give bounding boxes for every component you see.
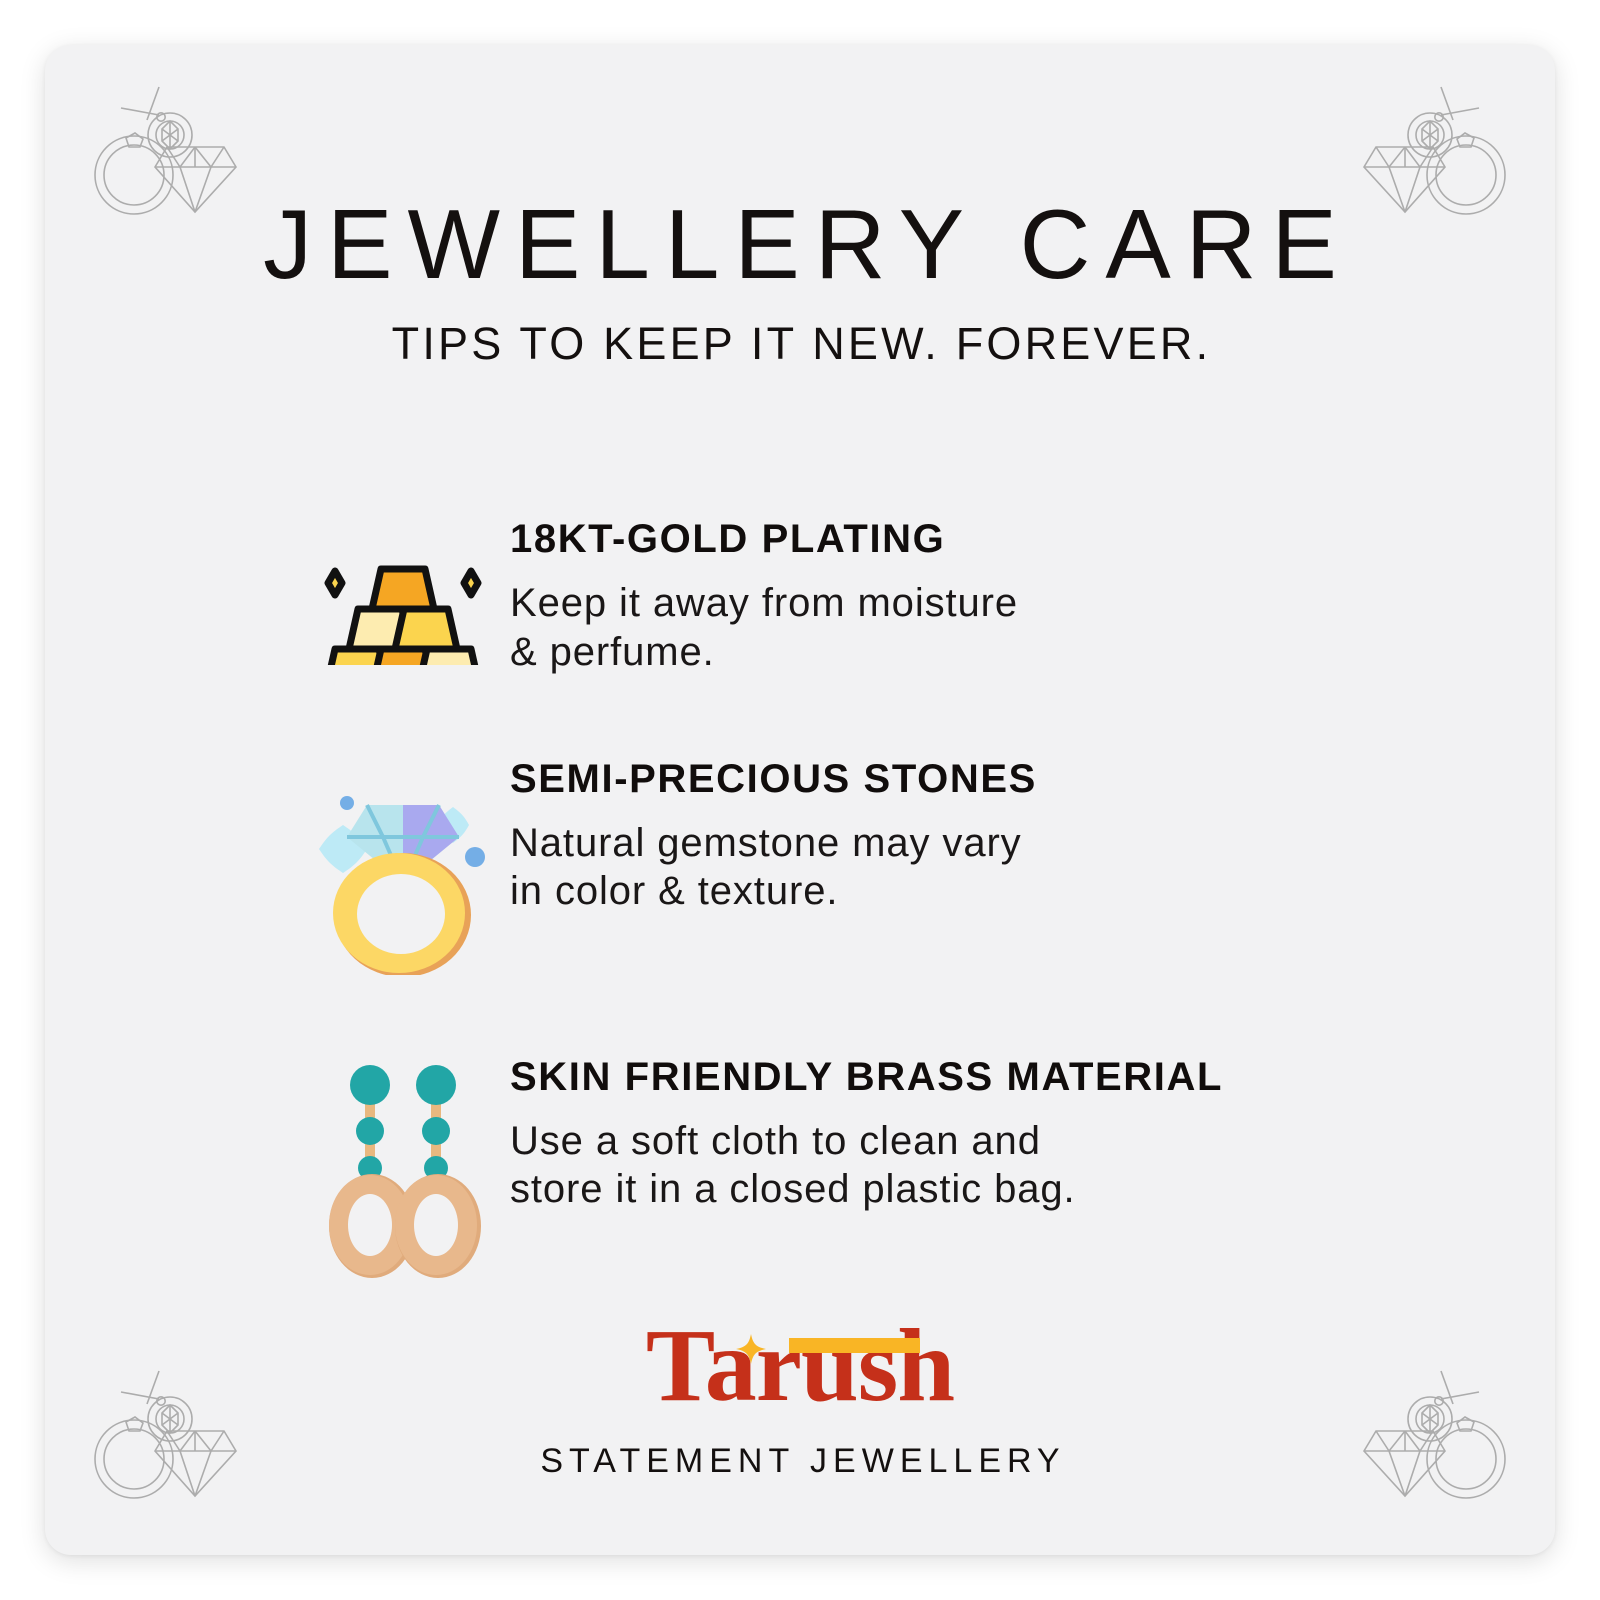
tip-text-gold-plating: 18KT-GOLD PLATING Keep it away from mois… — [510, 515, 1018, 677]
gold-bars-icon — [295, 515, 510, 665]
tip-text-brass-material: SKIN FRIENDLY BRASS MATERIAL Use a soft … — [510, 1053, 1223, 1215]
tip-body: Natural gemstone may vary in color & tex… — [510, 819, 1037, 917]
page-subtitle: TIPS TO KEEP IT NEW. FOREVER. — [45, 318, 1555, 370]
tip-body: Use a soft cloth to clean and store it i… — [510, 1117, 1223, 1215]
diamond-ring-icon — [295, 755, 510, 975]
brand-name: Tarush — [646, 1312, 954, 1420]
brand-logo: Tarush — [646, 1312, 954, 1420]
header: JEWELLERY CARE TIPS TO KEEP IT NEW. FORE… — [45, 193, 1555, 370]
tip-heading: SKIN FRIENDLY BRASS MATERIAL — [510, 1055, 1223, 1099]
tip-row-semi-precious-stones: SEMI-PRECIOUS STONES Natural gemstone ma… — [45, 755, 1555, 975]
brand-tagline: STATEMENT JEWELLERY — [45, 1442, 1555, 1481]
footer: Tarush STATEMENT JEWELLERY — [45, 1312, 1555, 1481]
earrings-icon — [295, 1053, 510, 1278]
tip-row-gold-plating: 18KT-GOLD PLATING Keep it away from mois… — [45, 515, 1555, 677]
page-title: JEWELLERY CARE — [45, 193, 1555, 296]
infographic-canvas: JEWELLERY CARE TIPS TO KEEP IT NEW. FORE… — [0, 0, 1600, 1600]
logo-gold-bar-icon — [789, 1338, 920, 1353]
tip-body: Keep it away from moisture & perfume. — [510, 579, 1018, 677]
earring-right — [395, 1065, 481, 1278]
logo-star-icon — [736, 1334, 766, 1364]
tip-row-brass-material: SKIN FRIENDLY BRASS MATERIAL Use a soft … — [45, 1053, 1555, 1278]
tip-text-semi-precious-stones: SEMI-PRECIOUS STONES Natural gemstone ma… — [510, 755, 1037, 917]
tips-list: 18KT-GOLD PLATING Keep it away from mois… — [45, 515, 1555, 1278]
care-card: JEWELLERY CARE TIPS TO KEEP IT NEW. FORE… — [45, 45, 1555, 1555]
tip-heading: SEMI-PRECIOUS STONES — [510, 757, 1037, 801]
tip-heading: 18KT-GOLD PLATING — [510, 517, 1018, 561]
ring-band — [333, 853, 471, 975]
